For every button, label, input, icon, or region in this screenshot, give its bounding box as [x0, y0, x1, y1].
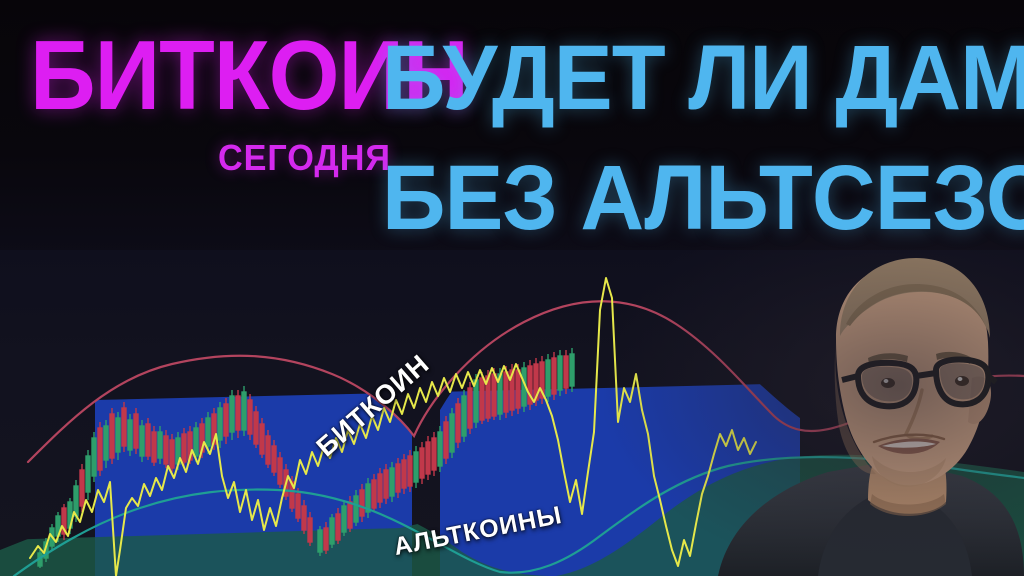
headline-line-1: БУДЕТ ЛИ ДАМП	[382, 32, 1024, 124]
background-glow	[604, 230, 1024, 576]
subtitle-today: СЕГОДНЯ	[218, 140, 391, 176]
thumbnail-canvas: БИТКОИН АЛЬТКОИНЫ БИТКОИН СЕГОДНЯ БУДЕТ …	[0, 0, 1024, 576]
headline-line-2: БЕЗ АЛЬТСЕЗОНА	[382, 152, 1024, 244]
